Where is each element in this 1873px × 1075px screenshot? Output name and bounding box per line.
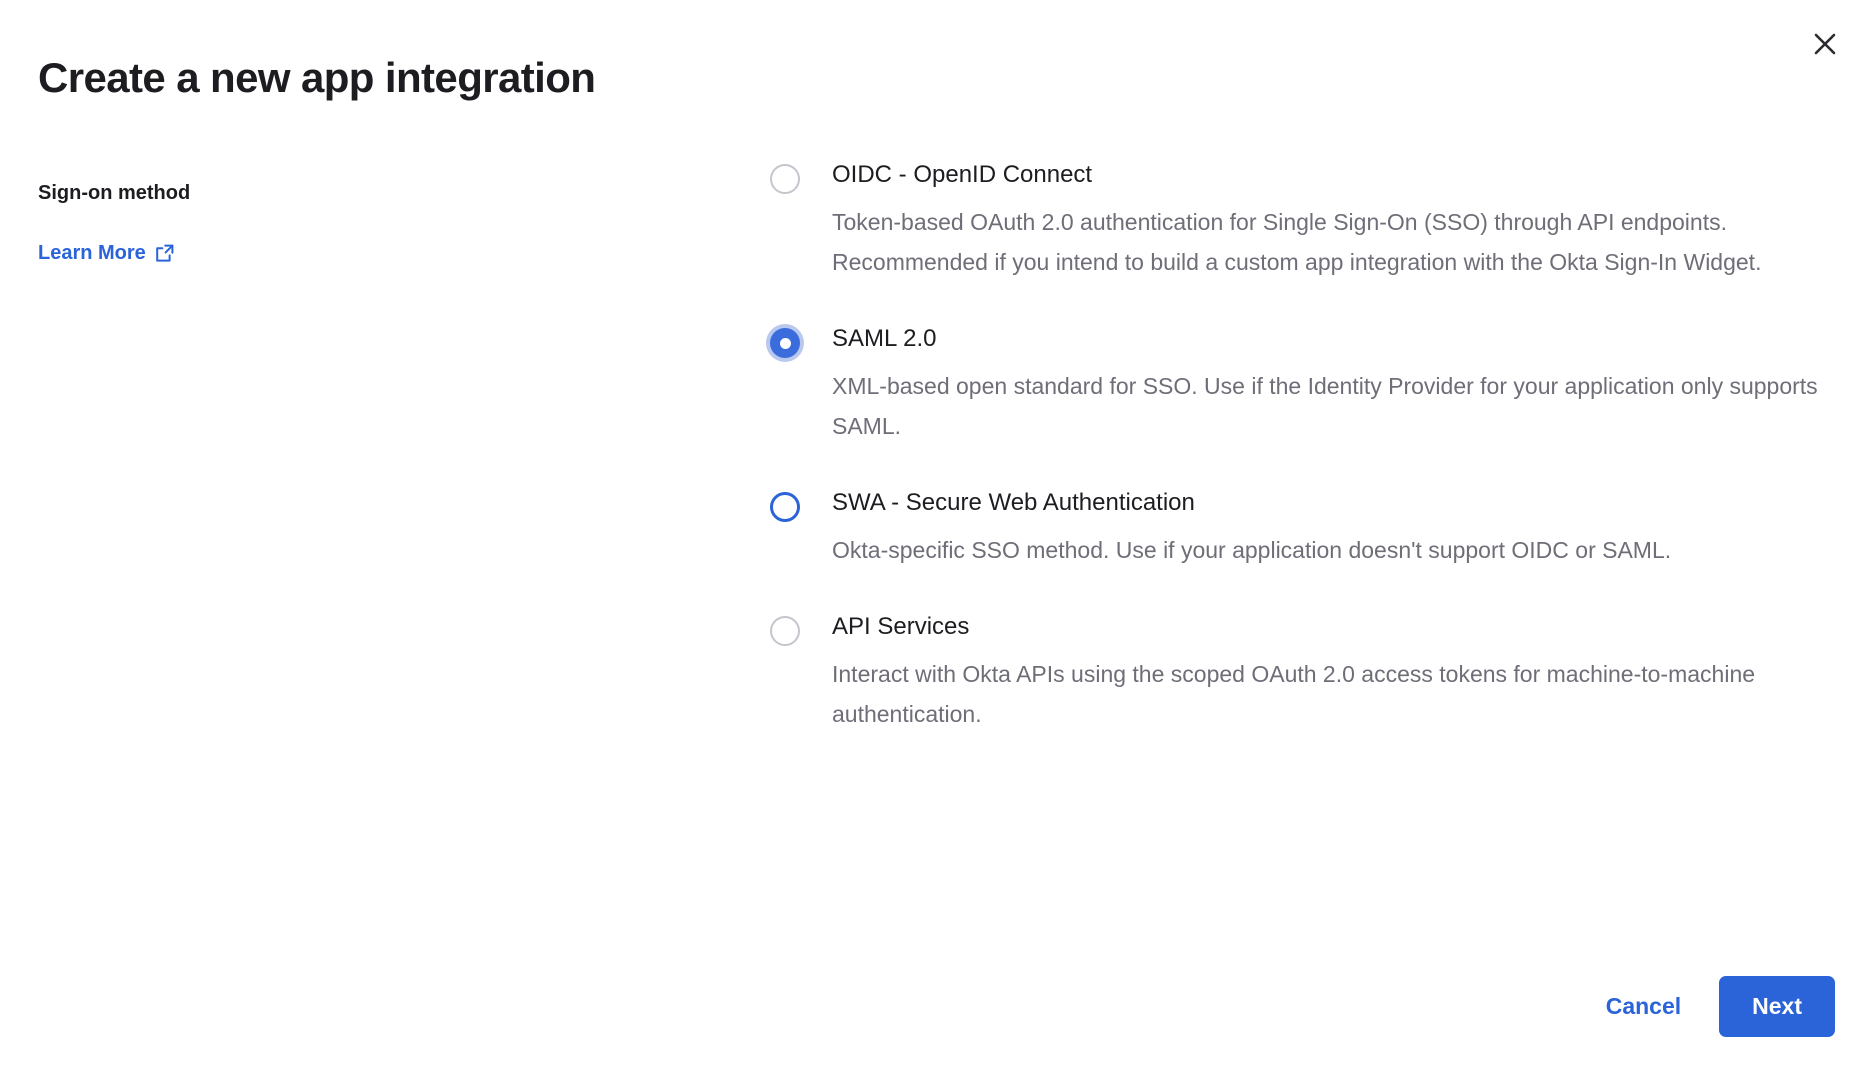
external-link-icon: [155, 244, 174, 263]
radio-indicator-api-services[interactable]: [770, 616, 800, 646]
radio-description-oidc: Token-based OAuth 2.0 authentication for…: [832, 202, 1835, 282]
radio-indicator-oidc[interactable]: [770, 164, 800, 194]
radio-label-swa: SWA - Secure Web Authentication: [832, 488, 1835, 518]
radio-indicator-saml[interactable]: [770, 328, 800, 358]
close-button[interactable]: [1803, 22, 1847, 66]
radio-label-oidc: OIDC - OpenID Connect: [832, 160, 1835, 190]
radio-description-swa: Okta-specific SSO method. Use if your ap…: [832, 530, 1835, 570]
sign-on-method-radio-group[interactable]: OIDC - OpenID Connect Token-based OAuth …: [770, 160, 1835, 734]
radio-label-saml: SAML 2.0: [832, 324, 1835, 354]
learn-more-link[interactable]: Learn More: [38, 240, 174, 266]
dialog-body: Sign-on method Learn More OIDC - OpenID …: [0, 160, 1873, 1075]
radio-option-swa[interactable]: SWA - Secure Web Authentication Okta-spe…: [770, 488, 1835, 570]
sign-on-method-label: Sign-on method: [38, 180, 598, 206]
radio-option-oidc[interactable]: OIDC - OpenID Connect Token-based OAuth …: [770, 160, 1835, 282]
left-column: Sign-on method Learn More: [38, 180, 598, 266]
dialog-footer: Cancel Next: [1598, 976, 1835, 1037]
radio-indicator-swa[interactable]: [770, 492, 800, 522]
radio-label-api-services: API Services: [832, 612, 1835, 642]
learn-more-label: Learn More: [38, 240, 146, 266]
radio-description-api-services: Interact with Okta APIs using the scoped…: [832, 654, 1835, 734]
radio-option-api-services[interactable]: API Services Interact with Okta APIs usi…: [770, 612, 1835, 734]
close-icon: [1812, 31, 1838, 57]
radio-description-saml: XML-based open standard for SSO. Use if …: [832, 366, 1835, 446]
cancel-button[interactable]: Cancel: [1598, 983, 1689, 1030]
radio-option-saml[interactable]: SAML 2.0 XML-based open standard for SSO…: [770, 324, 1835, 446]
create-app-integration-dialog: Create a new app integration Sign-on met…: [0, 0, 1873, 1075]
next-button[interactable]: Next: [1719, 976, 1835, 1037]
page-title: Create a new app integration: [38, 52, 595, 104]
